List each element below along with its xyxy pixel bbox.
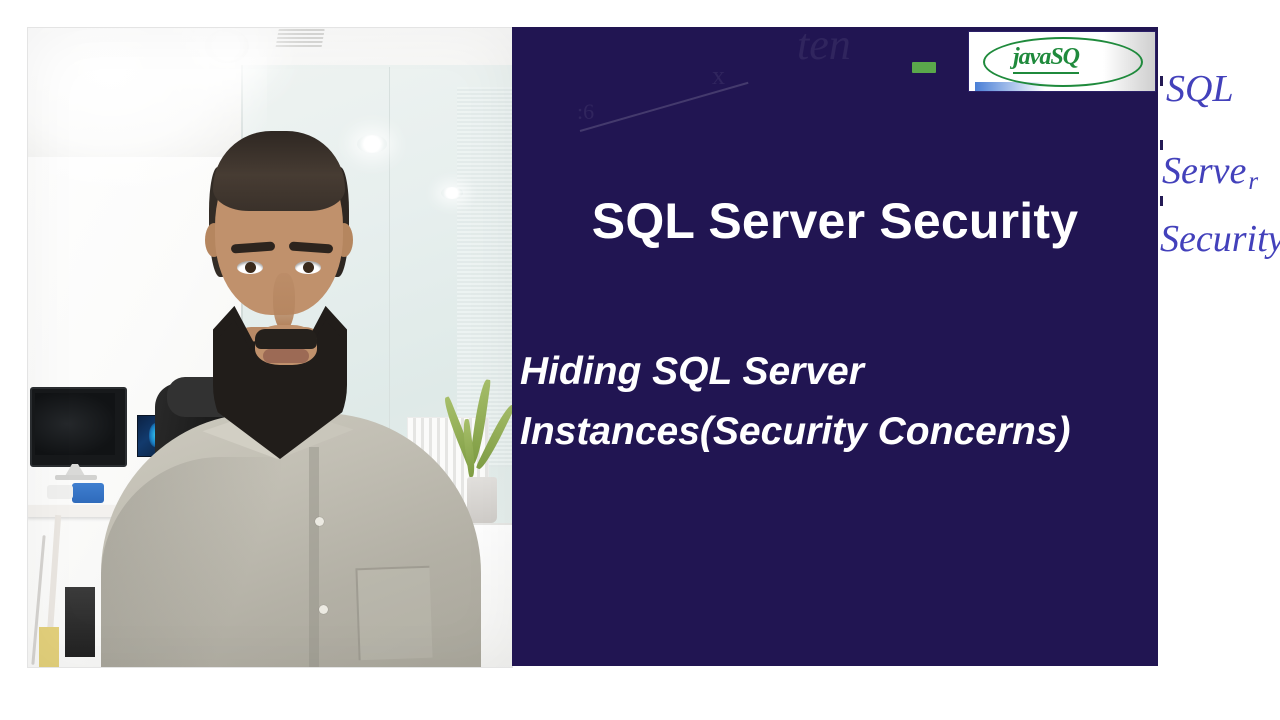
slide-subtitle-line-2: Instances(Security Concerns) <box>520 402 1158 462</box>
left-margin <box>0 0 27 720</box>
computer-tower <box>65 587 95 657</box>
ghost-text-artifact: ten <box>797 27 851 70</box>
plant-pot <box>467 477 497 523</box>
caption-tick <box>1160 140 1163 150</box>
screen-root: ten x :6 SQL Server Security Hiding SQL … <box>0 0 1280 720</box>
presentation-slide[interactable]: ten x :6 SQL Server Security Hiding SQL … <box>512 27 1158 666</box>
side-caption-word-text: Serve <box>1162 150 1246 192</box>
top-margin <box>0 0 1280 27</box>
logo-text: javaSQ <box>1013 44 1079 74</box>
ghost-line-artifact <box>580 82 749 132</box>
desk-object <box>47 485 73 499</box>
presenter-nose <box>273 273 295 331</box>
ceiling-light <box>441 187 463 199</box>
ghost-text-artifact: x <box>712 61 725 91</box>
channel-logo[interactable]: javaSQ <box>968 31 1156 92</box>
slide-subtitle: Hiding SQL Server Instances(Security Con… <box>520 342 1158 463</box>
shirt-button <box>319 605 328 614</box>
glass-mullion <box>389 67 390 487</box>
side-caption-word-security: Security <box>1160 220 1280 258</box>
presenter-pupil <box>303 262 314 273</box>
presenter-pupil <box>245 262 256 273</box>
shirt-placket <box>309 447 319 668</box>
presenter-lips <box>263 349 309 363</box>
caption-tick <box>1160 196 1163 206</box>
side-caption-word-text: Security <box>1160 218 1280 260</box>
yellow-box <box>39 627 59 668</box>
side-caption-word-text: SQL <box>1166 68 1234 110</box>
monitor-base <box>55 475 97 480</box>
presenter-webcam-feed[interactable] <box>27 27 513 668</box>
side-caption-word-server: Server <box>1162 152 1258 194</box>
presenter-moustache <box>255 329 317 349</box>
shirt-button <box>315 517 324 526</box>
side-caption-word-sql: SQL <box>1166 70 1234 108</box>
green-dash-marker <box>912 62 936 73</box>
monitor-screen <box>35 393 115 455</box>
bottom-margin <box>0 668 1280 720</box>
water-bottle <box>72 483 104 503</box>
slide-title: SQL Server Security <box>512 192 1158 250</box>
ceiling-vent <box>275 29 325 49</box>
ceiling-light <box>357 135 387 153</box>
caption-tick <box>1160 76 1163 86</box>
ghost-text-artifact: :6 <box>577 99 594 125</box>
side-caption-word-suffix: r <box>1248 169 1258 194</box>
shirt-pocket <box>355 566 432 661</box>
slide-subtitle-line-1: Hiding SQL Server <box>520 342 1158 402</box>
